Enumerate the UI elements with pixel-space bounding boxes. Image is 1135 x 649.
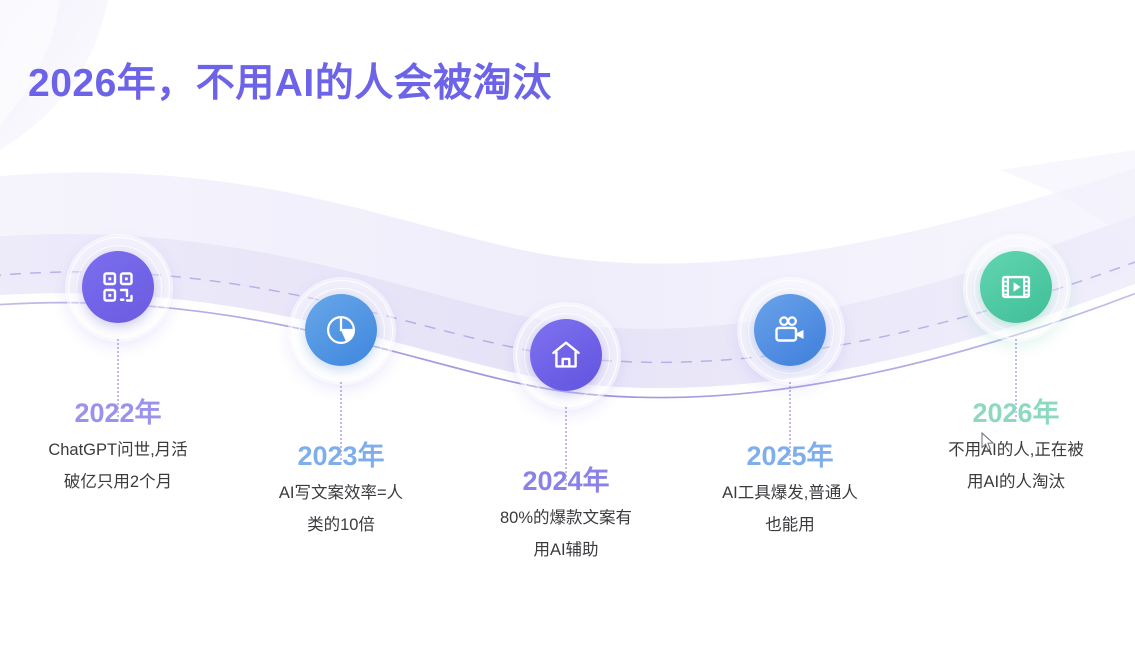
node-description: ChatGPT问世,月活 破亿只用2个月 bbox=[8, 434, 228, 498]
node-circle-2023[interactable] bbox=[289, 278, 393, 382]
desc-line-2: 用AI的人淘汰 bbox=[902, 466, 1130, 498]
node-disc bbox=[754, 294, 826, 366]
node-circle-2026[interactable] bbox=[964, 235, 1068, 339]
desc-line-2: 也能用 bbox=[676, 509, 904, 541]
desc-line-1: 80%的爆款文案有 bbox=[456, 502, 676, 534]
node-disc bbox=[305, 294, 377, 366]
desc-line-1: ChatGPT问世,月活 bbox=[8, 434, 228, 466]
node-year-label: 2024年 bbox=[466, 459, 666, 498]
desc-line-2: 用AI辅助 bbox=[456, 534, 676, 566]
desc-line-1: 不用AI的人,正在被 bbox=[902, 434, 1130, 466]
video-camera-icon bbox=[772, 312, 808, 348]
slide-canvas: 2026年，不用AI的人会被淘汰 2022年 ChatGPT问世,月活 bbox=[0, 0, 1135, 649]
node-circle-2024[interactable] bbox=[514, 303, 618, 407]
node-year-label: 2022年 bbox=[18, 391, 218, 430]
node-year-label: 2026年 bbox=[916, 391, 1116, 430]
page-title: 2026年，不用AI的人会被淘汰 bbox=[28, 52, 552, 108]
node-description: 80%的爆款文案有 用AI辅助 bbox=[456, 502, 676, 566]
node-disc bbox=[530, 319, 602, 391]
node-year-label: 2023年 bbox=[241, 434, 441, 473]
node-description: 不用AI的人,正在被 用AI的人淘汰 bbox=[902, 434, 1130, 498]
pie-chart-icon bbox=[323, 312, 359, 348]
node-description: AI写文案效率=人 类的10倍 bbox=[231, 477, 451, 541]
node-circle-2022[interactable] bbox=[66, 235, 170, 339]
desc-line-1: AI工具爆发,普通人 bbox=[676, 477, 904, 509]
node-circle-2025[interactable] bbox=[738, 278, 842, 382]
film-play-icon bbox=[998, 269, 1034, 305]
qr-code-icon bbox=[100, 269, 136, 305]
desc-line-2: 类的10倍 bbox=[231, 509, 451, 541]
home-icon bbox=[548, 337, 584, 373]
desc-line-1: AI写文案效率=人 bbox=[231, 477, 451, 509]
node-disc bbox=[980, 251, 1052, 323]
desc-line-2: 破亿只用2个月 bbox=[8, 466, 228, 498]
node-year-label: 2025年 bbox=[690, 434, 890, 473]
node-disc bbox=[82, 251, 154, 323]
node-description: AI工具爆发,普通人 也能用 bbox=[676, 477, 904, 541]
